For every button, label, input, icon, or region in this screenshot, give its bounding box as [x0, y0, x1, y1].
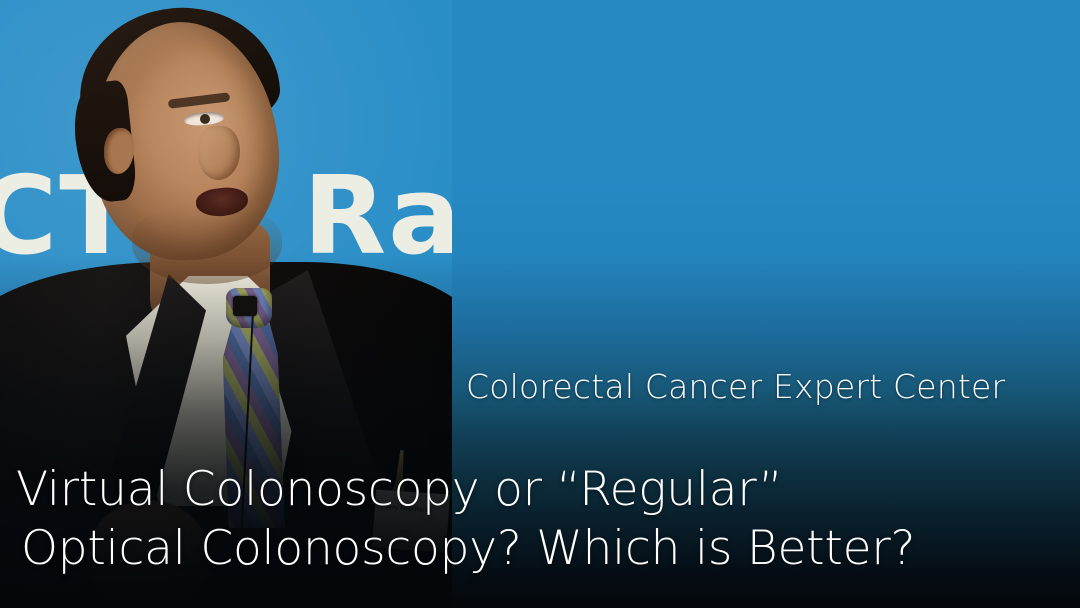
subtitle: Colorectal Cancer Expert Center [466, 367, 1066, 407]
video-title-card: CTRad Perry Pickhardt USA Colorectal Can… [0, 0, 1080, 608]
title-line-2: Optical Colonoscopy? Which is Better? [16, 519, 1072, 578]
page-title: Virtual Colonoscopy or “Regular” Optical… [16, 460, 1072, 578]
title-line-1: Virtual Colonoscopy or “Regular” [16, 460, 1072, 519]
